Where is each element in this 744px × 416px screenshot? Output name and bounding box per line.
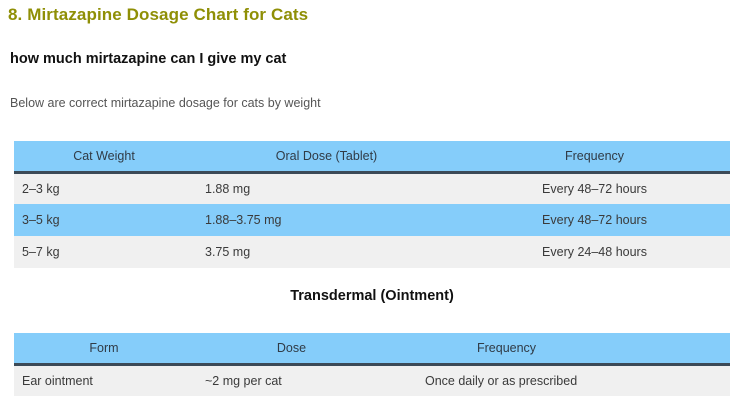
table-body: Ear ointment ~2 mg per cat Once daily or… [14,364,730,396]
cell-frequency: Once daily or as prescribed [389,364,730,396]
cell-oral-dose: 1.88–3.75 mg [194,204,459,236]
column-header-form: Form [14,333,194,364]
transdermal-dosage-table: Form Dose Frequency Ear ointment ~2 mg p… [14,333,730,396]
cell-frequency: Every 48–72 hours [459,204,730,236]
cell-cat-weight: 3–5 kg [14,204,194,236]
cell-frequency: Every 24–48 hours [459,236,730,268]
table-row: Ear ointment ~2 mg per cat Once daily or… [14,364,730,396]
page-title: 8. Mirtazapine Dosage Chart for Cats [8,5,308,25]
column-header-cat-weight: Cat Weight [14,141,194,172]
cell-oral-dose: 1.88 mg [194,172,459,204]
table-head: Cat Weight Oral Dose (Tablet) Frequency [14,141,730,172]
transdermal-subheading: Transdermal (Ointment) [14,288,730,304]
oral-dosage-table: Cat Weight Oral Dose (Tablet) Frequency … [14,141,730,268]
column-header-dose: Dose [194,333,389,364]
cell-frequency: Every 48–72 hours [459,172,730,204]
table-header-row: Cat Weight Oral Dose (Tablet) Frequency [14,141,730,172]
table-head: Form Dose Frequency [14,333,730,364]
cell-dose: ~2 mg per cat [194,364,389,396]
table-row: 5–7 kg 3.75 mg Every 24–48 hours [14,236,730,268]
cell-oral-dose: 3.75 mg [194,236,459,268]
table-body: 2–3 kg 1.88 mg Every 48–72 hours 3–5 kg … [14,172,730,268]
page-root: 8. Mirtazapine Dosage Chart for Cats how… [0,0,744,416]
column-header-frequency: Frequency [389,333,730,364]
cell-cat-weight: 2–3 kg [14,172,194,204]
lead-paragraph: Below are correct mirtazapine dosage for… [10,96,321,110]
column-header-oral-dose: Oral Dose (Tablet) [194,141,459,172]
question-heading: how much mirtazapine can I give my cat [10,51,286,67]
cell-cat-weight: 5–7 kg [14,236,194,268]
cell-form: Ear ointment [14,364,194,396]
table-header-row: Form Dose Frequency [14,333,730,364]
column-header-frequency: Frequency [459,141,730,172]
table-row: 3–5 kg 1.88–3.75 mg Every 48–72 hours [14,204,730,236]
table-row: 2–3 kg 1.88 mg Every 48–72 hours [14,172,730,204]
